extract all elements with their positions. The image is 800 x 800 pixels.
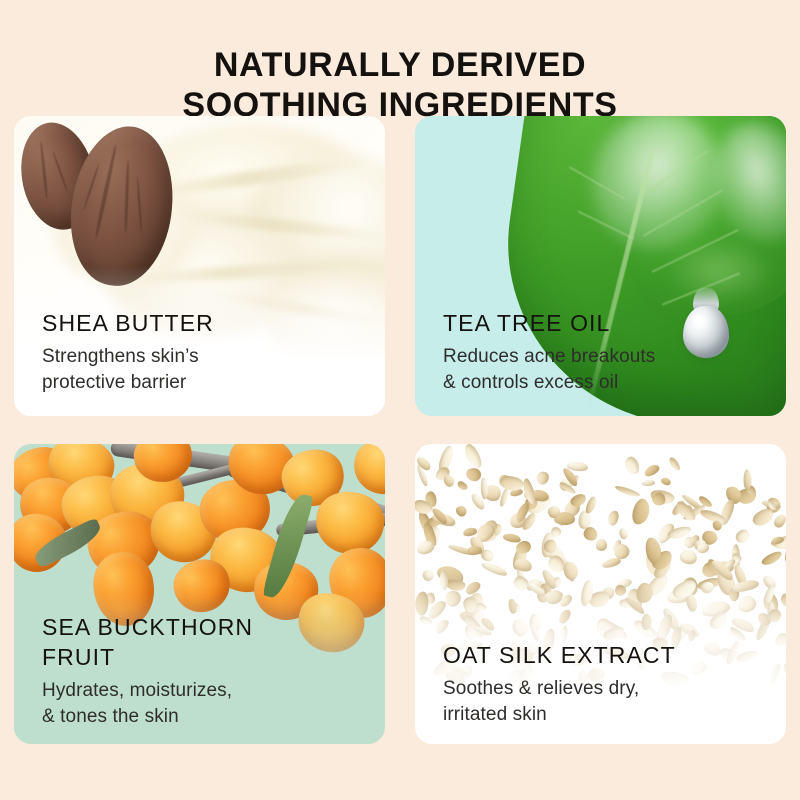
oat-flake-icon (629, 497, 652, 527)
oat-flake-icon (643, 463, 661, 479)
card-description: Hydrates, moisturizes, & tones the skin (42, 678, 365, 730)
ingredient-card-tea-tree-oil[interactable]: TEA TREE OIL Reduces acne breakouts & co… (415, 116, 786, 416)
sea-buckthorn-text-block: SEA BUCKTHORN FRUIT Hydrates, moisturize… (42, 612, 365, 730)
oat-flake-icon (668, 456, 683, 473)
oat-flake-icon (660, 477, 672, 488)
card-description: Soothes & relieves dry, irritated skin (443, 676, 766, 728)
card-title: OAT SILK EXTRACT (443, 640, 766, 670)
oat-flake-icon (465, 466, 482, 482)
card-description: Reduces acne breakouts & controls excess… (443, 344, 766, 396)
oat-flake-icon (618, 528, 628, 541)
oat-flake-icon (442, 473, 456, 488)
page-title-line-1: NATURALLY DERIVED (0, 45, 800, 85)
oat-flake-icon (454, 504, 468, 518)
card-title: SEA BUCKTHORN FRUIT (42, 612, 365, 672)
card-title: TEA TREE OIL (443, 308, 766, 338)
oat-flake-icon (456, 480, 469, 492)
oat-flake-icon (623, 455, 642, 477)
oat-flake-icon (613, 484, 640, 499)
oat-flake-icon (772, 512, 786, 529)
card-description: Strengthens skin’s protective barrier (42, 344, 365, 396)
oat-flake-icon (642, 479, 655, 486)
oat-flake-icon (502, 532, 521, 543)
oat-flake-icon (607, 510, 621, 527)
ingredient-card-shea-butter[interactable]: SHEA BUTTER Strengthens skin’s protectiv… (14, 116, 385, 416)
oat-flake-icon (462, 444, 484, 470)
oat-flake-icon (596, 539, 607, 551)
ingredients-infographic: NATURALLY DERIVED SOOTHING INGREDIENTS (0, 0, 800, 800)
tea-tree-oil-text-block: TEA TREE OIL Reduces acne breakouts & co… (443, 308, 766, 396)
page-title: NATURALLY DERIVED SOOTHING INGREDIENTS (0, 45, 800, 125)
card-title: SHEA BUTTER (42, 308, 365, 338)
ingredient-card-oat-silk-extract[interactable]: OAT SILK EXTRACT Soothes & relieves dry,… (415, 444, 786, 744)
ingredient-card-grid: SHEA BUTTER Strengthens skin’s protectiv… (14, 116, 786, 784)
oat-flake-icon (734, 527, 752, 545)
oat-flake-icon (584, 495, 599, 515)
shea-butter-text-block: SHEA BUTTER Strengthens skin’s protectiv… (42, 308, 365, 396)
oat-silk-extract-text-block: OAT SILK EXTRACT Soothes & relieves dry,… (443, 640, 766, 728)
ingredient-card-sea-buckthorn-fruit[interactable]: SEA BUCKTHORN FRUIT Hydrates, moisturize… (14, 444, 385, 744)
oat-flake-icon (534, 470, 551, 487)
